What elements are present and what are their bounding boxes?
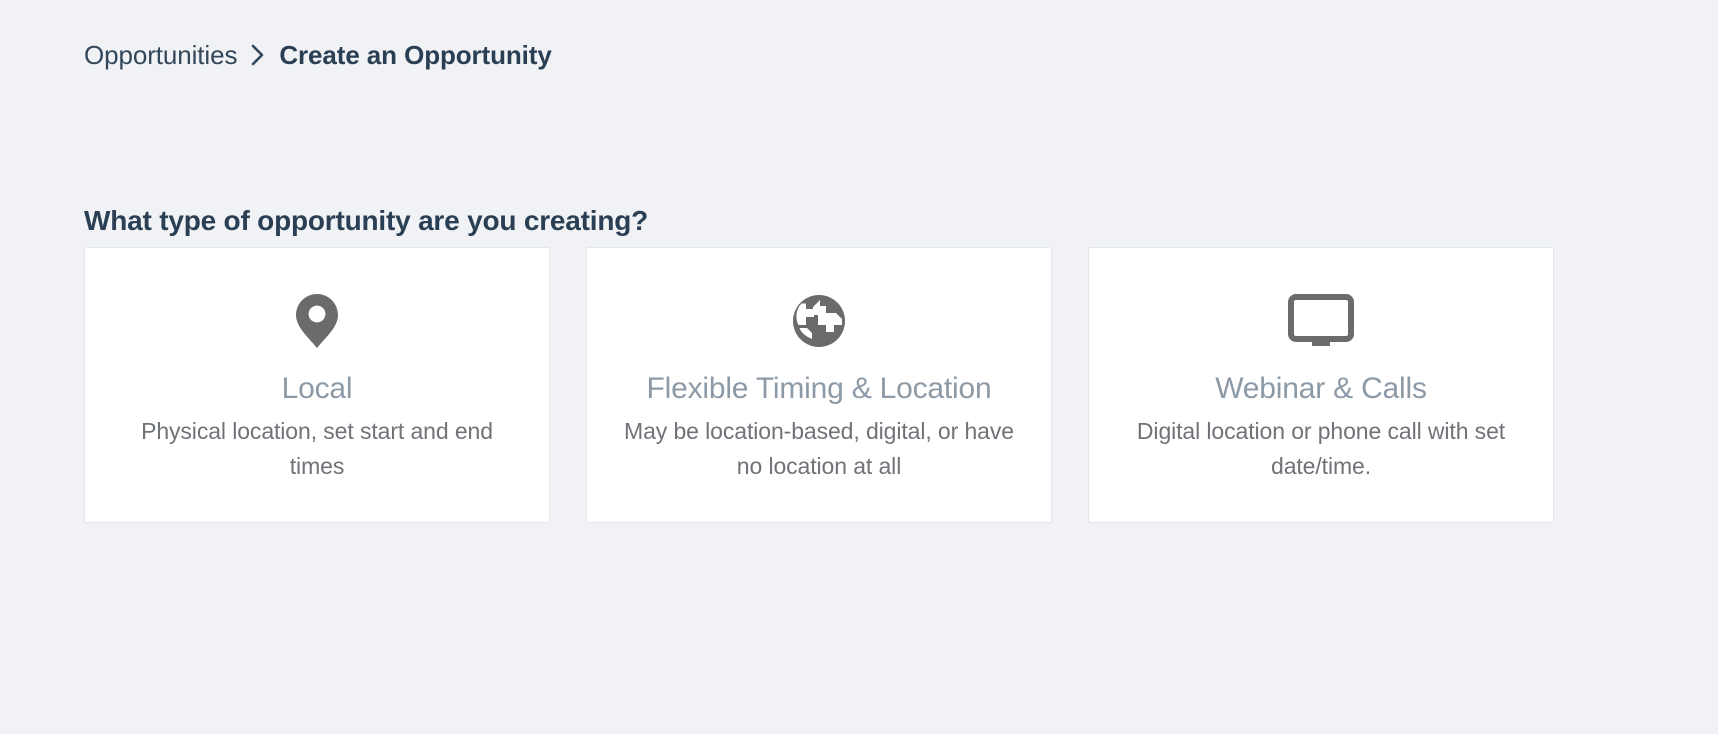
card-description: May be location-based, digital, or have …: [619, 414, 1019, 484]
opportunity-type-card-local[interactable]: Local Physical location, set start and e…: [84, 247, 550, 523]
card-title: Flexible Timing & Location: [647, 370, 992, 408]
card-title: Local: [282, 370, 353, 408]
monitor-icon: [1288, 292, 1354, 350]
opportunity-type-card-webinar[interactable]: Webinar & Calls Digital location or phon…: [1088, 247, 1554, 523]
card-description: Digital location or phone call with set …: [1121, 414, 1521, 484]
breadcrumb-link-opportunities[interactable]: Opportunities: [84, 38, 237, 72]
page-title: What type of opportunity are you creatin…: [84, 204, 648, 238]
opportunity-type-card-flexible[interactable]: Flexible Timing & Location May be locati…: [586, 247, 1052, 523]
breadcrumb: Opportunities Create an Opportunity: [84, 38, 552, 72]
breadcrumb-current-create-an-opportunity: Create an Opportunity: [279, 38, 551, 72]
card-description: Physical location, set start and end tim…: [117, 414, 517, 484]
map-pin-icon: [295, 292, 339, 350]
create-opportunity-page: Opportunities Create an Opportunity What…: [0, 0, 1718, 734]
chevron-right-icon: [250, 42, 266, 68]
opportunity-type-card-list: Local Physical location, set start and e…: [84, 247, 1554, 523]
globe-icon: [792, 292, 846, 350]
card-title: Webinar & Calls: [1215, 370, 1427, 408]
